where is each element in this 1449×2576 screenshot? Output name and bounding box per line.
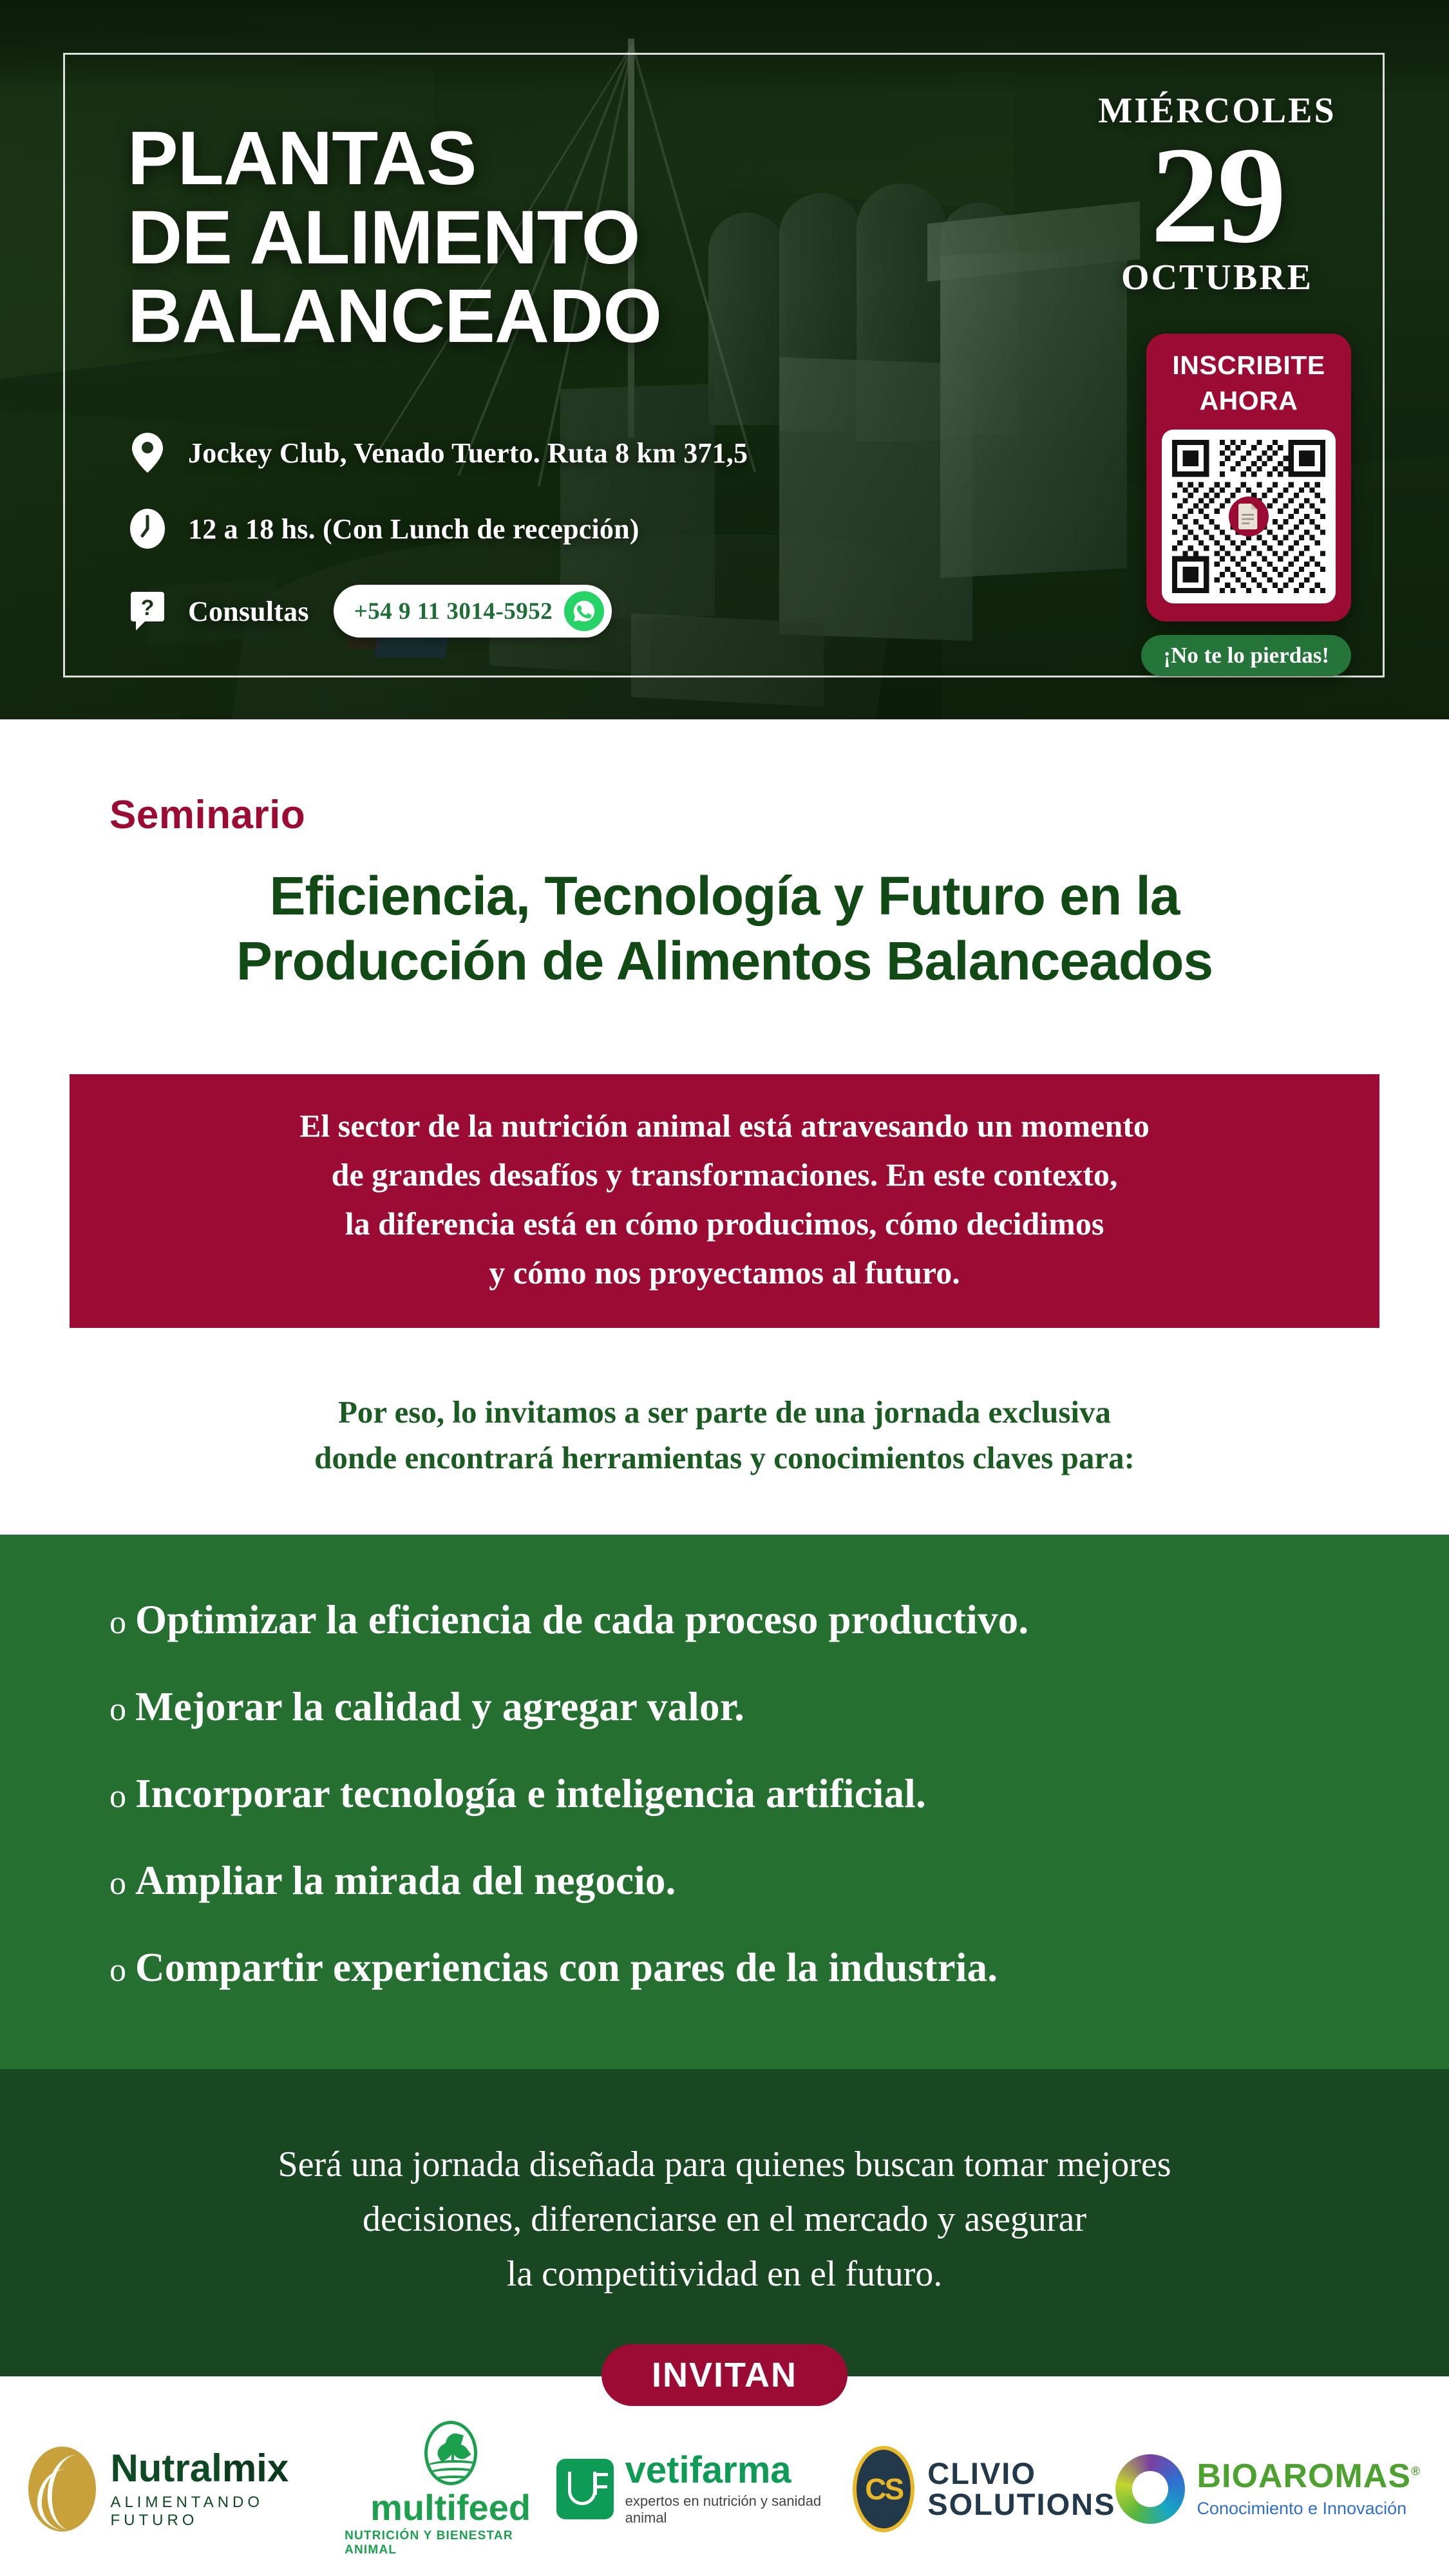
bullet-marker-icon: o <box>109 1864 135 1902</box>
nutralmix-wordmark: Nutralmix <box>110 2449 345 2488</box>
whatsapp-icon[interactable] <box>564 591 604 631</box>
event-contact-label: Consultas <box>188 595 309 628</box>
nutralmix-tagline: ALIMENTANDO FUTURO <box>110 2494 345 2530</box>
qr-heading-line-2: AHORA <box>1162 383 1336 419</box>
event-day-number: 29 <box>1082 134 1352 256</box>
multifeed-plant-icon <box>424 2421 477 2485</box>
seminar-title-line-1: Eficiencia, Tecnología y Futuro en la <box>80 864 1368 929</box>
whatsapp-number: +54 9 11 3014-5952 <box>354 598 553 625</box>
question-bubble-icon: ? <box>128 591 167 631</box>
seminar-intro-section: Seminario Eficiencia, Tecnología y Futur… <box>0 719 1449 1535</box>
logo-clivio-solutions[interactable]: CS CLIVIO SOLUTIONS <box>853 2446 1115 2532</box>
seminar-kicker: Seminario <box>109 792 1449 838</box>
event-info-list: Jockey Club, Venado Tuerto. Ruta 8 km 37… <box>128 433 748 674</box>
event-location-text: Jockey Club, Venado Tuerto. Ruta 8 km 37… <box>188 437 748 469</box>
bullet-marker-icon: o <box>109 1777 135 1815</box>
vetifarma-tagline: expertos en nutrición y sanidad animal <box>625 2493 853 2526</box>
clivio-cs-icon: CS <box>853 2446 914 2532</box>
closing-line-3: la competitividad en el futuro. <box>0 2247 1449 2302</box>
closing-statement: Será una jornada diseñada para quienes b… <box>0 2069 1449 2302</box>
hero-title-line-2: DE ALIMENTO <box>128 198 661 278</box>
benefits-list-section: o Optimizar la eficiencia de cada proces… <box>0 1535 1449 2069</box>
list-item: o Ampliar la mirada del negocio. <box>109 1857 1449 1904</box>
logo-bioaromas[interactable]: BIOAROMAS® Conocimiento e Innovación <box>1115 2454 1421 2524</box>
svg-text:?: ? <box>141 596 155 620</box>
hero-title: PLANTAS DE ALIMENTO BALANCEADO <box>128 119 661 356</box>
invitation-lead: Por eso, lo invitamos a ser parte de una… <box>0 1389 1449 1481</box>
quote-line-4: y cómo nos proyectamos al futuro. <box>95 1248 1354 1297</box>
vetifarma-wordmark: vetifarma <box>625 2452 853 2489</box>
qr-heading-line-1: INSCRIBITE <box>1162 348 1336 383</box>
bullet-text: Incorporar tecnología e inteligencia art… <box>135 1770 926 1817</box>
seminar-title-line-2: Producción de Alimentos Balanceados <box>80 929 1368 994</box>
list-item: o Incorporar tecnología e inteligencia a… <box>109 1770 1449 1817</box>
closing-statement-section: Será una jornada diseñada para quienes b… <box>0 2069 1449 2376</box>
lead-line-1: Por eso, lo invitamos a ser parte de una… <box>0 1389 1449 1435</box>
quote-line-3: la diferencia está en cómo producimos, c… <box>95 1199 1354 1248</box>
logo-multifeed[interactable]: multifeed NUTRICIÓN Y BIENESTAR ANIMAL <box>345 2421 556 2557</box>
clivio-cs-monogram: CS <box>857 2450 911 2528</box>
hero-title-line-3: BALANCEADO <box>128 277 661 356</box>
lead-line-2: donde encontrará herramientas y conocimi… <box>0 1435 1449 1481</box>
quote-line-2: de grandes desafíos y transformaciones. … <box>95 1150 1354 1199</box>
invitan-badge: INVITAN <box>601 2344 848 2406</box>
event-month: OCTUBRE <box>1082 257 1352 298</box>
hero-title-line-1: PLANTAS <box>128 119 661 198</box>
seminar-title: Eficiencia, Tecnología y Futuro en la Pr… <box>80 864 1368 994</box>
quote-line-1: El sector de la nutrición animal está at… <box>95 1101 1354 1150</box>
list-item: o Mejorar la calidad y agregar valor. <box>109 1683 1449 1730</box>
clock-icon <box>128 509 167 549</box>
bullet-marker-icon: o <box>109 1951 135 1989</box>
vetifarma-vf-icon <box>556 2459 614 2519</box>
logo-nutralmix[interactable]: Nutralmix ALIMENTANDO FUTURO <box>28 2447 345 2532</box>
closing-line-2: decisiones, diferenciarse en el mercado … <box>0 2192 1449 2247</box>
multifeed-tagline: NUTRICIÓN Y BIENESTAR ANIMAL <box>345 2529 556 2557</box>
event-location-row: Jockey Club, Venado Tuerto. Ruta 8 km 37… <box>128 433 748 473</box>
whatsapp-contact-pill[interactable]: +54 9 11 3014-5952 <box>334 585 612 638</box>
clivio-wordmark-line-1: CLIVIO <box>927 2458 1115 2489</box>
event-date-block: MIÉRCOLES 29 OCTUBRE <box>1082 90 1352 298</box>
bullet-text: Compartir experiencias con pares de la i… <box>135 1944 998 1991</box>
qr-code-box[interactable] <box>1162 430 1336 603</box>
location-pin-icon <box>128 433 167 473</box>
event-time-text: 12 a 18 hs. (Con Lunch de recepción) <box>188 513 639 545</box>
bioaromas-ring-icon <box>1115 2454 1185 2524</box>
list-item: o Compartir experiencias con pares de la… <box>109 1944 1449 1991</box>
dont-miss-badge: ¡No te lo pierdas! <box>1141 635 1351 676</box>
logo-vetifarma[interactable]: vetifarma expertos en nutrición y sanida… <box>556 2452 853 2526</box>
bioaromas-wordmark: BIOAROMAS® <box>1197 2459 1421 2493</box>
bioaromas-tagline: Conocimiento e Innovación <box>1197 2499 1421 2519</box>
bullet-marker-icon: o <box>109 1690 135 1728</box>
clivio-wordmark-line-2: SOLUTIONS <box>927 2489 1115 2520</box>
hero-banner: PLANTAS DE ALIMENTO BALANCEADO Jockey Cl… <box>0 0 1449 719</box>
nutralmix-bean-icon <box>28 2447 96 2532</box>
context-quote-box: El sector de la nutrición animal está at… <box>70 1074 1379 1328</box>
closing-line-1: Será una jornada diseñada para quienes b… <box>0 2137 1449 2192</box>
document-icon <box>1229 497 1269 536</box>
bullet-text: Optimizar la eficiencia de cada proceso … <box>135 1596 1028 1643</box>
multifeed-wordmark: multifeed <box>370 2490 531 2524</box>
event-time-row: 12 a 18 hs. (Con Lunch de recepción) <box>128 509 748 549</box>
bullet-text: Mejorar la calidad y agregar valor. <box>135 1683 744 1730</box>
sponsor-logos-footer: Nutralmix ALIMENTANDO FUTURO multifeed N… <box>0 2376 1449 2576</box>
register-qr-card[interactable]: INSCRIBITE AHORA <box>1146 334 1351 621</box>
bullet-marker-icon: o <box>109 1604 135 1642</box>
bullet-text: Ampliar la mirada del negocio. <box>135 1857 676 1904</box>
list-item: o Optimizar la eficiencia de cada proces… <box>109 1596 1449 1643</box>
event-contact-row[interactable]: ? Consultas +54 9 11 3014-5952 <box>128 585 748 638</box>
